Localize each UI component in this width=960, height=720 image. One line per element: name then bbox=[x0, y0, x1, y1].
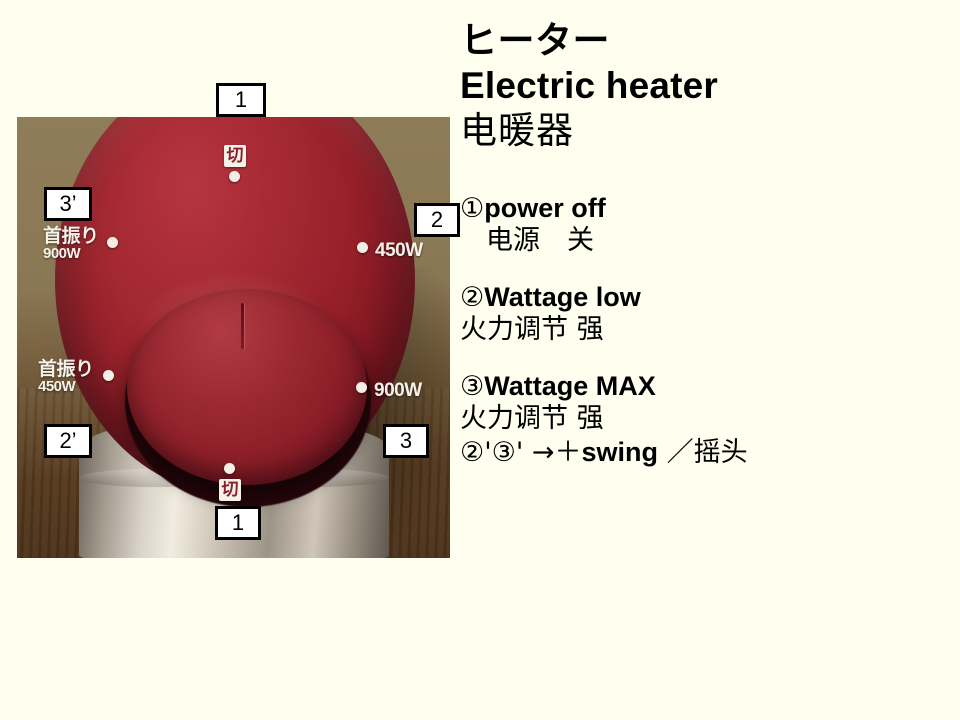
item-3-english-line: ③Wattage MAX bbox=[460, 371, 950, 403]
description-text-column: ヒーター Electric heater 电暖器 ①power off 电源 关… bbox=[460, 18, 950, 470]
dial-dot-swing-900w bbox=[107, 237, 118, 248]
dial-marking-swing-450w-label: 首振り bbox=[38, 359, 94, 380]
dial-marking-swing-450w-sub: 450W bbox=[38, 379, 94, 394]
item-2-english-line: ②Wattage low bbox=[460, 282, 950, 314]
item-1-number: ① bbox=[460, 193, 484, 224]
dial-dot-450w bbox=[357, 242, 368, 253]
spacer-after-item-2 bbox=[460, 347, 950, 371]
item-2-english: Wattage low bbox=[484, 282, 641, 312]
item-2-chinese: 火力调节 强 bbox=[460, 314, 950, 347]
item-1-english: power off bbox=[484, 193, 606, 223]
dial-dot-off-top bbox=[229, 171, 240, 182]
item-1-english-line: ①power off bbox=[460, 193, 950, 225]
swing-note-prefix: ②'③' bbox=[460, 437, 523, 468]
callout-1-top: 1 bbox=[216, 83, 266, 117]
dial-marking-swing-900w: 首振り 900W bbox=[43, 227, 99, 261]
spacer-after-item-1 bbox=[460, 258, 950, 282]
dial-marking-swing-450w: 首振り 450W bbox=[38, 360, 94, 394]
callout-3: 3 bbox=[383, 424, 429, 458]
title-english: Electric heater bbox=[460, 63, 950, 108]
swing-note: ②'③' →＋swing ／摇头 bbox=[460, 436, 950, 470]
dial-marking-swing-900w-sub: 900W bbox=[43, 246, 99, 261]
title-chinese: 电暖器 bbox=[460, 108, 950, 153]
swing-note-separator: ／ bbox=[667, 437, 694, 468]
callout-2-prime: 2’ bbox=[44, 424, 92, 458]
dial-marking-off-bottom-icon: 切 bbox=[219, 479, 241, 501]
item-3-number: ③ bbox=[460, 371, 484, 402]
swing-note-chinese: 摇头 bbox=[694, 437, 748, 468]
item-2-number: ② bbox=[460, 282, 484, 313]
dial-marking-900w: 900W bbox=[374, 381, 422, 400]
dial-dot-900w bbox=[356, 382, 367, 393]
dial-dot-off-bottom bbox=[224, 463, 235, 474]
dial-dot-swing-450w bbox=[103, 370, 114, 381]
swing-note-english: swing bbox=[581, 437, 658, 467]
callout-1-bottom: 1 bbox=[215, 506, 261, 540]
callout-2: 2 bbox=[414, 203, 460, 237]
spacer-after-titles bbox=[460, 153, 950, 193]
dial-marking-450w: 450W bbox=[375, 241, 423, 260]
item-1-chinese: 电源 关 bbox=[460, 225, 950, 258]
knob-pointer-notch bbox=[241, 303, 244, 349]
callout-3-prime: 3’ bbox=[44, 187, 92, 221]
item-3-english: Wattage MAX bbox=[484, 371, 656, 401]
item-3-chinese: 火力调节 强 bbox=[460, 403, 950, 436]
swing-note-arrow: →＋ bbox=[532, 437, 582, 468]
dial-marking-off-top-icon: 切 bbox=[224, 145, 246, 167]
control-knob[interactable] bbox=[127, 289, 367, 485]
title-japanese: ヒーター bbox=[460, 18, 950, 63]
electric-heater-control-dial-photo: 切 首振り 900W 450W 首振り 450W 900W 切 bbox=[17, 117, 450, 558]
dial-marking-swing-900w-label: 首振り bbox=[43, 226, 99, 247]
